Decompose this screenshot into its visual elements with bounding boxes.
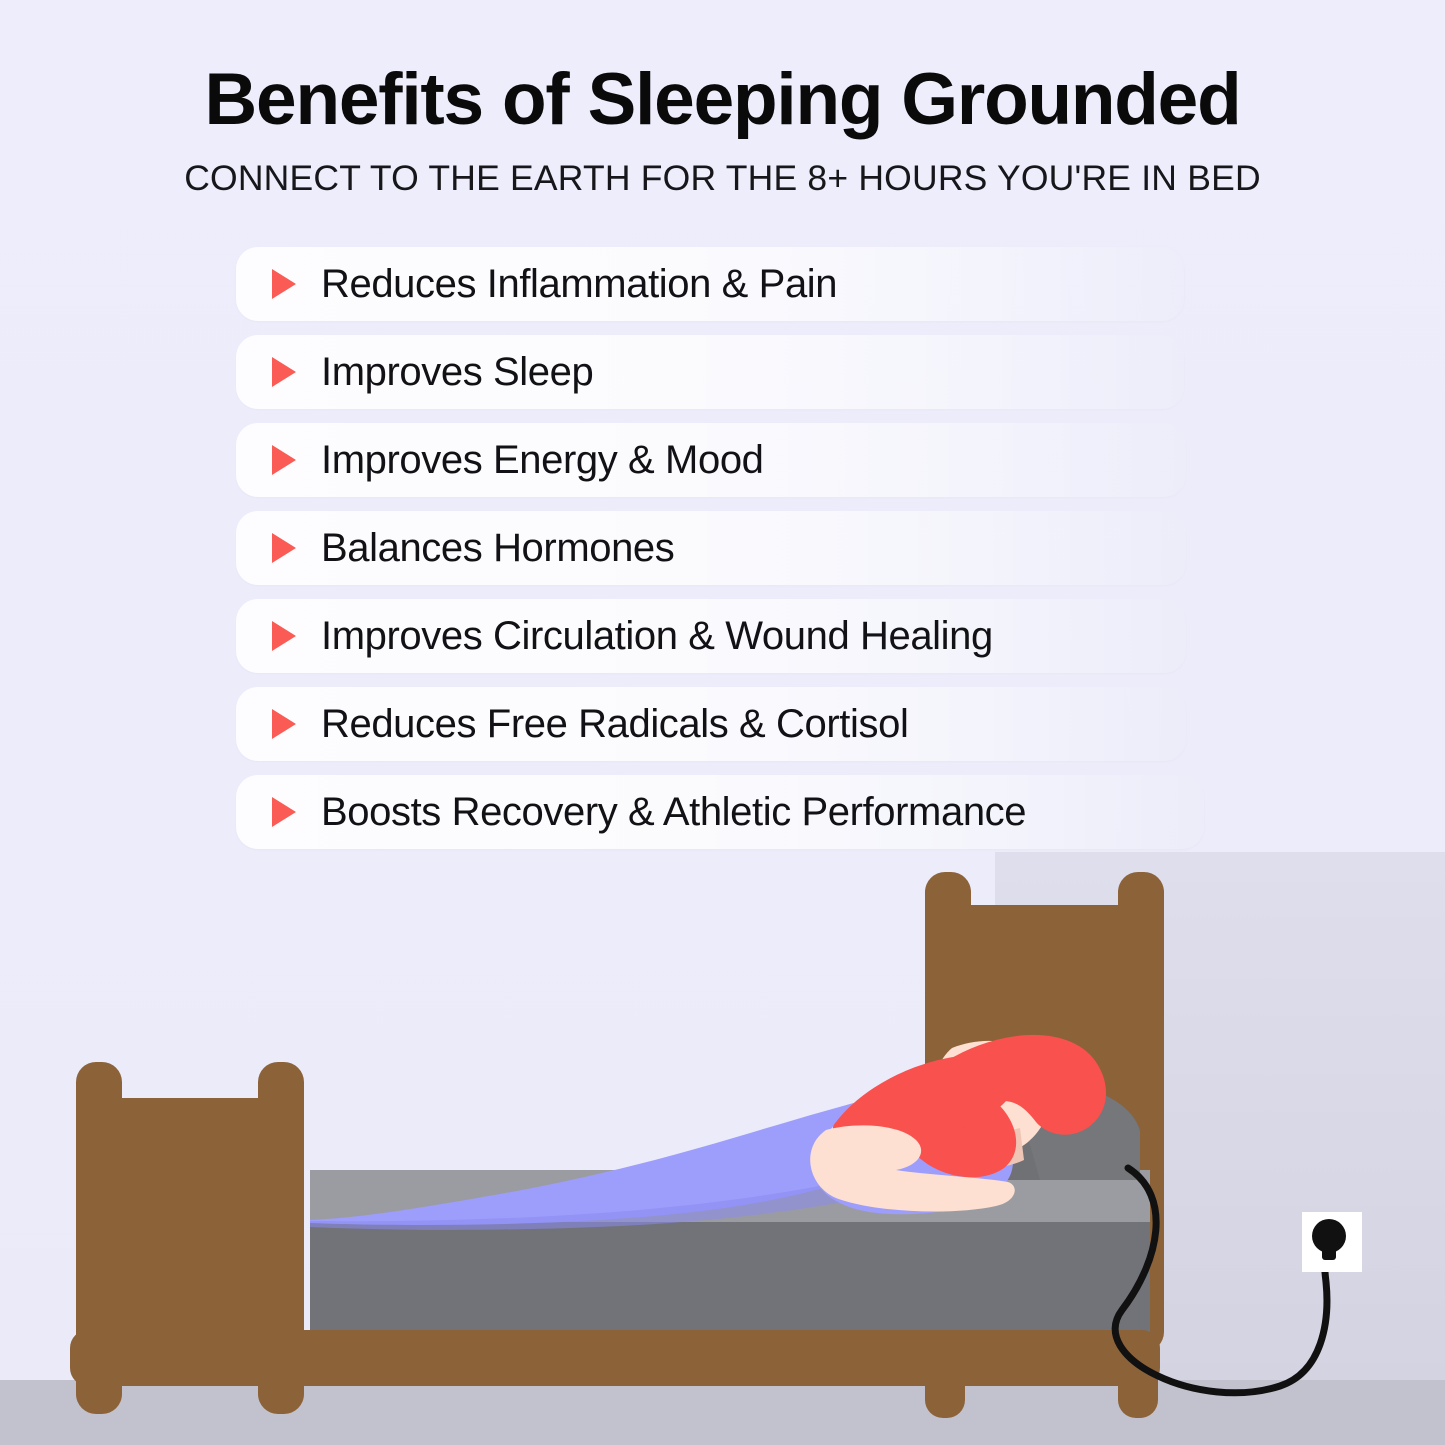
benefit-content: Balances Hormones: [236, 511, 674, 585]
benefit-item[interactable]: Improves Sleep: [236, 335, 1236, 409]
benefit-label: Reduces Inflammation & Pain: [321, 262, 837, 307]
header: Benefits of Sleeping Grounded CONNECT TO…: [0, 0, 1445, 199]
benefit-content: Improves Energy & Mood: [236, 423, 764, 497]
benefit-label: Balances Hormones: [321, 526, 674, 571]
benefit-item[interactable]: Reduces Free Radicals & Cortisol: [236, 687, 1236, 761]
sleeping-illustration: [0, 830, 1445, 1445]
infographic-canvas: Benefits of Sleeping Grounded CONNECT TO…: [0, 0, 1445, 1445]
benefit-label: Improves Circulation & Wound Healing: [321, 614, 993, 659]
benefit-item[interactable]: Balances Hormones: [236, 511, 1236, 585]
play-triangle-icon: [272, 797, 296, 827]
benefit-content: Improves Circulation & Wound Healing: [236, 599, 993, 673]
benefit-content: Reduces Inflammation & Pain: [236, 247, 837, 321]
benefit-label: Improves Sleep: [321, 350, 593, 395]
page-subtitle: CONNECT TO THE EARTH FOR THE 8+ HOURS YO…: [0, 138, 1445, 199]
play-triangle-icon: [272, 445, 296, 475]
benefit-label: Improves Energy & Mood: [321, 438, 764, 483]
benefit-content: Boosts Recovery & Athletic Performance: [236, 775, 1026, 849]
benefit-item[interactable]: Reduces Inflammation & Pain: [236, 247, 1236, 321]
benefit-label: Reduces Free Radicals & Cortisol: [321, 702, 908, 747]
play-triangle-icon: [272, 621, 296, 651]
play-triangle-icon: [272, 533, 296, 563]
play-triangle-icon: [272, 709, 296, 739]
play-triangle-icon: [272, 269, 296, 299]
benefit-item[interactable]: Improves Energy & Mood: [236, 423, 1236, 497]
wall-outlet: [1302, 1212, 1362, 1272]
page-title: Benefits of Sleeping Grounded: [0, 0, 1445, 138]
benefit-content: Improves Sleep: [236, 335, 593, 409]
play-triangle-icon: [272, 357, 296, 387]
benefits-list: Reduces Inflammation & PainImproves Slee…: [236, 247, 1236, 863]
benefit-label: Boosts Recovery & Athletic Performance: [321, 790, 1026, 835]
benefit-item[interactable]: Improves Circulation & Wound Healing: [236, 599, 1236, 673]
benefit-content: Reduces Free Radicals & Cortisol: [236, 687, 908, 761]
